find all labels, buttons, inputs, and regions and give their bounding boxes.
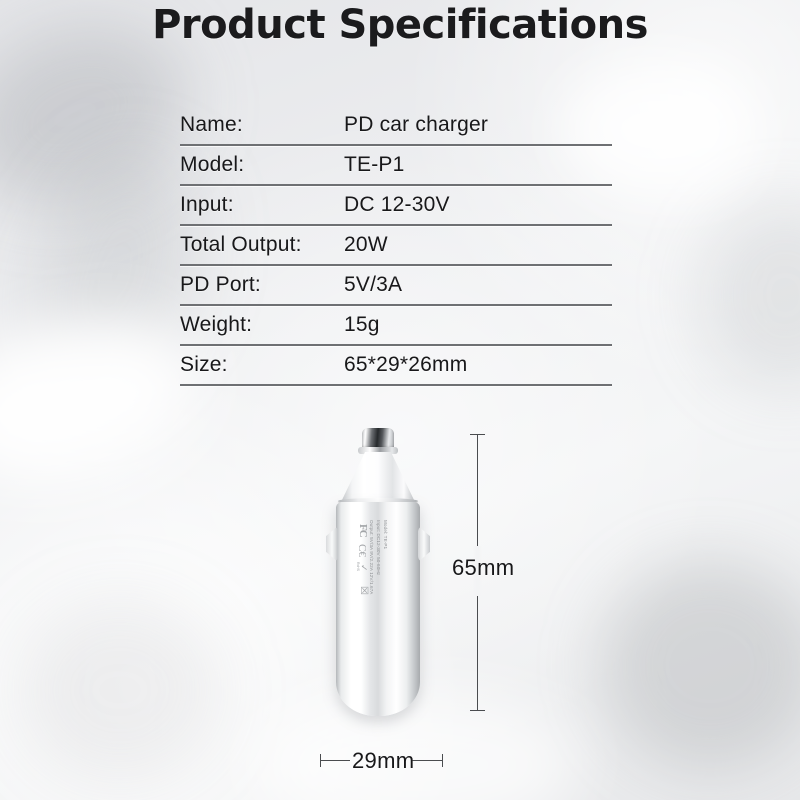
table-row: Total Output: 20W bbox=[180, 226, 612, 266]
spec-value: DC 12-30V bbox=[344, 193, 612, 217]
width-dimension-line-right bbox=[412, 760, 442, 761]
width-dimension-cap-right bbox=[442, 754, 443, 767]
product-image-car-charger: Model: TE-P1 Input: DC12-30V 50-60Hz Out… bbox=[312, 428, 444, 718]
spring-contact-clip bbox=[418, 526, 430, 562]
tapered-shoulder bbox=[342, 452, 414, 500]
table-row: Model: TE-P1 bbox=[180, 146, 612, 186]
printed-label-input: Input: DC12-30V 50-60Hz bbox=[375, 520, 381, 624]
spec-value: 5V/3A bbox=[344, 273, 612, 297]
spec-label: Model: bbox=[180, 153, 344, 177]
fcc-icon: FC bbox=[357, 524, 369, 537]
table-row: Size: 65*29*26mm bbox=[180, 346, 612, 386]
width-dimension-label: 29mm bbox=[352, 748, 414, 774]
spec-label: PD Port: bbox=[180, 273, 344, 297]
spec-value: PD car charger bbox=[344, 113, 612, 137]
spec-value: 15g bbox=[344, 313, 612, 337]
rohs-label: RoHS bbox=[356, 562, 360, 571]
height-dimension-cap-bottom bbox=[470, 710, 485, 711]
printed-label-model: Model: TE-P1 bbox=[382, 520, 388, 624]
certification-marks: FC C€ ✓ RoHS ☒ bbox=[277, 524, 369, 548]
table-row: Name: PD car charger bbox=[180, 106, 612, 146]
spec-label: Total Output: bbox=[180, 233, 344, 257]
page-title: Product Specifications bbox=[0, 2, 800, 48]
weee-bin-icon: ☒ bbox=[358, 586, 369, 595]
table-row: Weight: 15g bbox=[180, 306, 612, 346]
height-dimension-label: 65mm bbox=[452, 555, 514, 581]
spec-label: Input: bbox=[180, 193, 344, 217]
spec-value: 20W bbox=[344, 233, 612, 257]
ce-mark-icon: C€ bbox=[356, 544, 368, 557]
table-row: Input: DC 12-30V bbox=[180, 186, 612, 226]
width-dimension-cap-left bbox=[320, 754, 321, 767]
product-spec-canvas: Product Specifications Name: PD car char… bbox=[0, 0, 800, 800]
spec-label: Weight: bbox=[180, 313, 344, 337]
spec-label: Name: bbox=[180, 113, 344, 137]
specification-table: Name: PD car charger Model: TE-P1 Input:… bbox=[180, 106, 612, 386]
height-dimension-cap-top bbox=[470, 434, 485, 435]
width-dimension-line-left bbox=[320, 760, 350, 761]
spec-value: TE-P1 bbox=[344, 153, 612, 177]
table-row: PD Port: 5V/3A bbox=[180, 266, 612, 306]
spec-value: 65*29*26mm bbox=[344, 353, 612, 377]
spec-label: Size: bbox=[180, 353, 344, 377]
